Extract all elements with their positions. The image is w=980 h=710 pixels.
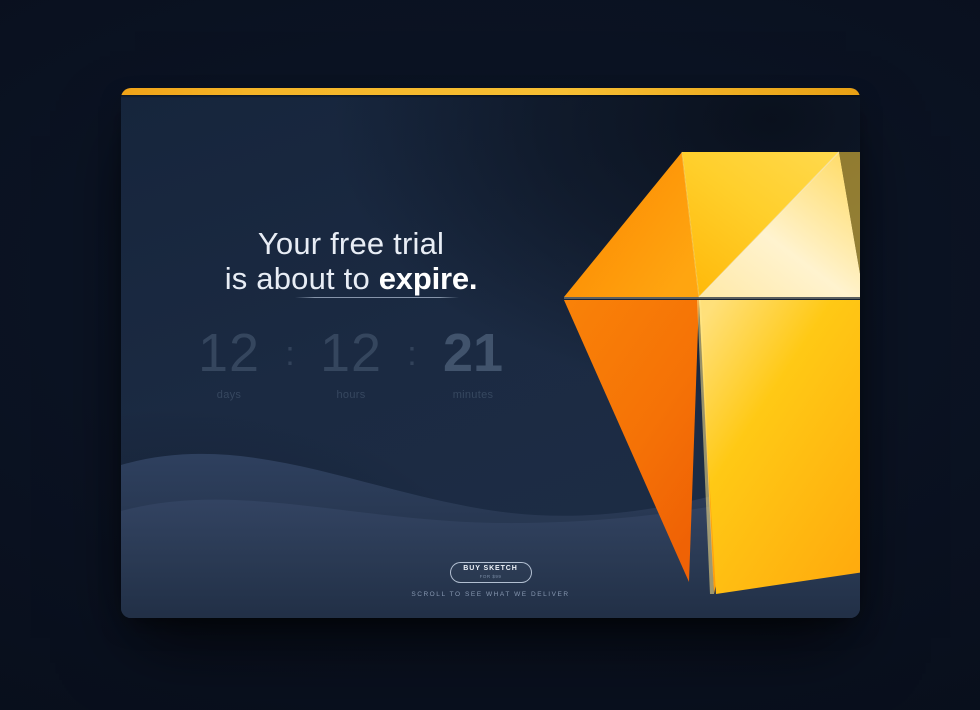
- countdown-separator-2: :: [397, 326, 427, 374]
- countdown-unit-hours: 12 hours: [305, 326, 397, 401]
- countdown-label-minutes: minutes: [427, 389, 519, 401]
- countdown-label-days: days: [183, 389, 275, 401]
- buy-sketch-button-price: FOR $99: [480, 574, 502, 580]
- page-title: Your free trial is about to expire.: [121, 226, 581, 296]
- countdown-unit-days: 12 days: [183, 326, 275, 401]
- countdown-value-days: 12: [183, 326, 275, 380]
- headline-line-1: Your free trial: [258, 226, 444, 261]
- countdown-value-minutes: 21: [427, 326, 519, 380]
- headline-line-2-prefix: is about to: [225, 261, 379, 296]
- countdown-unit-minutes: 21 minutes: [427, 326, 519, 401]
- hero-card: Your free trial is about to expire. 12 d…: [121, 88, 860, 618]
- hero-content: Your free trial is about to expire. 12 d…: [121, 88, 860, 618]
- scroll-hint: SCROLL TO SEE WHAT WE DELIVER: [411, 591, 569, 598]
- buy-sketch-button[interactable]: BUY SKETCH FOR $99: [450, 562, 532, 583]
- headline-emphasis: expire.: [379, 261, 478, 296]
- countdown-value-hours: 12: [305, 326, 397, 380]
- countdown-separator-1: :: [275, 326, 305, 374]
- accent-bar: [121, 88, 860, 95]
- divider: [295, 297, 459, 298]
- countdown-timer: 12 days : 12 hours : 21 minutes: [121, 326, 581, 401]
- page-root: Your free trial is about to expire. 12 d…: [0, 0, 980, 710]
- countdown-label-hours: hours: [305, 389, 397, 401]
- buy-sketch-button-label: BUY SKETCH: [463, 565, 517, 573]
